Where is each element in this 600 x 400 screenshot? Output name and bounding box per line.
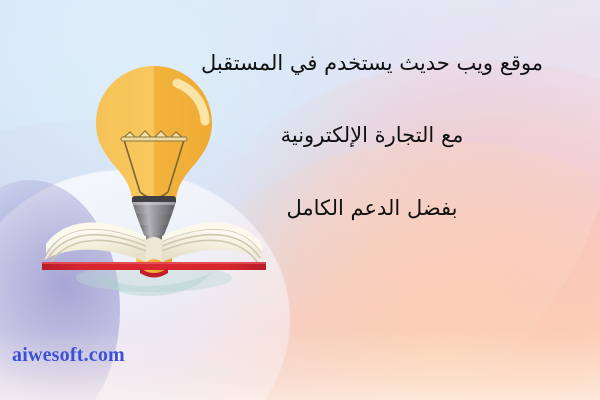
headline-line-3: بفضل الدعم الكامل xyxy=(162,195,582,221)
book-cover-shine xyxy=(42,262,266,264)
headline-block: موقع ويب حديث يستخدم في المستقبل مع التج… xyxy=(162,50,582,221)
book-right-pages xyxy=(162,222,264,263)
background-light-streak xyxy=(349,379,600,400)
promo-banner: موقع ويب حديث يستخدم في المستقبل مع التج… xyxy=(0,0,600,400)
book-gutter xyxy=(146,237,162,262)
book-left-pages xyxy=(44,222,146,263)
headline-line-1: موقع ويب حديث يستخدم في المستقبل xyxy=(162,50,582,76)
watermark-aiwesoft: aiwesoft.com xyxy=(12,344,125,367)
background-light-streak-glow xyxy=(376,380,600,400)
headline-line-2: مع التجارة الإلكترونية xyxy=(162,122,582,148)
